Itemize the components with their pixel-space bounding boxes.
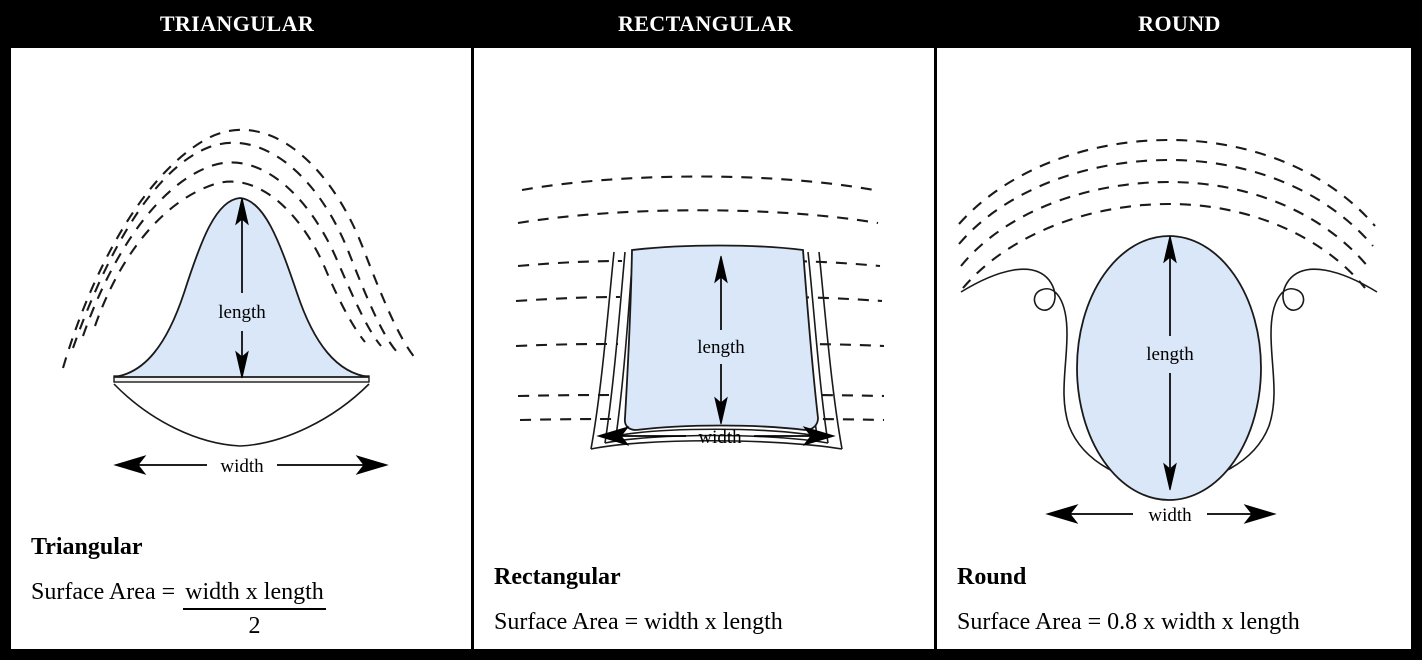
table-frame — [0, 0, 1422, 660]
figure-page: TRIANGULAR RECTANGULAR ROUND — [0, 0, 1422, 660]
